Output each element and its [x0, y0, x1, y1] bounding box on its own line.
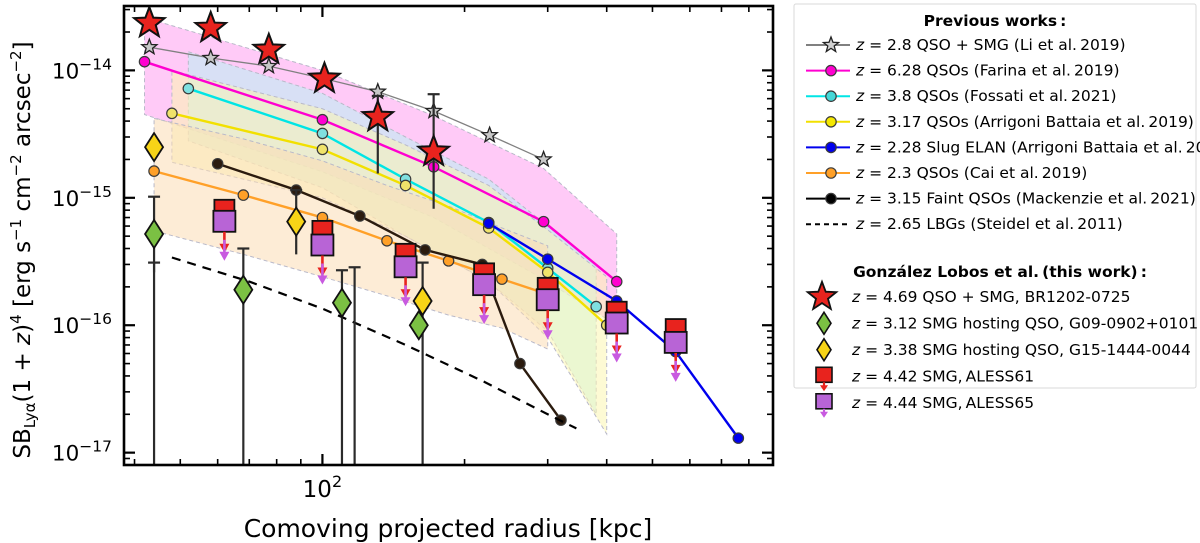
- legend-marker-circle-2: [826, 91, 836, 101]
- legend-label-thiswork-2: z = 3.38 SMG hosting QSO, G15-1444-0044: [851, 341, 1191, 359]
- series-6-point-3: [420, 245, 430, 255]
- legend-marker-circle-3: [826, 117, 836, 127]
- legend-label-previous-5: z = 2.3 QSOs (Cai et al. 2019): [855, 164, 1087, 182]
- legend-item-previous-3[interactable]: z = 3.17 QSOs (Arrigoni Battaia et al. 2…: [806, 113, 1194, 131]
- legend-marker-circle-5: [826, 168, 836, 178]
- aless65-marker-2: [395, 256, 417, 277]
- x-axis-title: Comoving projected radius [kpc]: [244, 514, 653, 543]
- aless65-marker-1: [311, 235, 333, 256]
- figure-root: SBLyα(1 + z)4 [erg s−1 cm−2 arcsec−2] Co…: [0, 0, 1200, 543]
- legend-label-previous-7: z = 2.65 LBGs (Steidel et al. 2011): [855, 215, 1123, 233]
- series-6-point-0: [212, 159, 222, 169]
- legend-item-previous-4[interactable]: z = 2.28 Slug ELAN (Arrigoni Battaia et …: [806, 138, 1200, 156]
- series-3-point-2: [400, 180, 410, 190]
- aless65-marker-0: [213, 211, 235, 232]
- series-5-point-0: [149, 166, 159, 176]
- aless65-marker-5: [606, 313, 628, 334]
- series-3-point-0: [167, 108, 177, 118]
- series-2-point-5: [591, 301, 601, 311]
- aless65-marker-4: [537, 289, 559, 310]
- series-6-point-5: [515, 358, 525, 368]
- series-2-point-1: [317, 128, 327, 138]
- legend-label-previous-2: z = 3.8 QSOs (Fossati et al. 2021): [855, 87, 1117, 105]
- legend-label-previous-0: z = 2.8 QSO + SMG (Li et al. 2019): [855, 36, 1126, 54]
- series-5-point-5: [497, 274, 507, 284]
- series-1-point-0: [139, 56, 149, 66]
- legend-label-previous-3: z = 3.17 QSOs (Arrigoni Battaia et al. 2…: [855, 113, 1194, 131]
- legend-item-previous-6[interactable]: z = 3.15 Faint QSOs (Mackenzie et al. 20…: [806, 190, 1196, 208]
- series-4-point-4: [733, 433, 743, 443]
- legend-label-previous-1: z = 6.28 QSOs (Farina et al. 2019): [855, 62, 1120, 80]
- legend-marker-circle-1: [826, 65, 836, 75]
- y-axis-label: SBLyα(1 + z)4 [erg s−1 cm−2 arcsec−2]: [7, 41, 39, 458]
- legend-marker-square-3: [816, 367, 832, 382]
- series-1-point-1: [317, 115, 327, 125]
- legend-item-thiswork-2[interactable]: z = 3.38 SMG hosting QSO, G15-1444-0044: [817, 339, 1191, 361]
- legend: Previous works :z = 2.8 QSO + SMG (Li et…: [794, 4, 1200, 418]
- series-3-point-1: [317, 144, 327, 154]
- legend-label-thiswork-4: z = 4.44 SMG, ALESS65: [851, 394, 1034, 412]
- aless65-marker-3: [473, 274, 495, 295]
- series-1-point-4: [612, 276, 622, 286]
- legend-label-thiswork-1: z = 3.12 SMG hosting QSO, G09-0902+0101: [851, 314, 1198, 332]
- legend-section1-title: Previous works :: [924, 12, 1067, 30]
- legend-label-previous-4: z = 2.28 Slug ELAN (Arrigoni Battaia et …: [855, 138, 1200, 156]
- series-5-point-3: [382, 236, 392, 246]
- legend-marker-square-4: [816, 394, 832, 409]
- legend-label-previous-6: z = 3.15 Faint QSOs (Mackenzie et al. 20…: [855, 190, 1196, 208]
- legend-label-thiswork-0: z = 4.69 QSO + SMG, BR1202-0725: [851, 288, 1130, 306]
- series-5-point-1: [238, 190, 248, 200]
- legend-item-thiswork-1[interactable]: z = 3.12 SMG hosting QSO, G09-0902+0101: [817, 312, 1198, 334]
- svg-text:SBLyα(1 + z)4 [erg s−1 cm−2 ar: SBLyα(1 + z)4 [erg s−1 cm−2 arcsec−2]: [7, 41, 39, 458]
- series-1-point-3: [538, 216, 548, 226]
- series-4-point-0: [484, 218, 494, 228]
- x-axis-label: Comoving projected radius [kpc]: [244, 514, 653, 543]
- series-4-point-1: [543, 254, 553, 264]
- legend-section2-title: González Lobos et al. (this work) :: [853, 263, 1147, 281]
- series-2-point-0: [183, 83, 193, 93]
- chart-svg: SBLyα(1 + z)4 [erg s−1 cm−2 arcsec−2] Co…: [0, 0, 1200, 543]
- series-3-point-4: [543, 267, 553, 277]
- legend-marker-circle-4: [826, 142, 836, 152]
- series-6-point-2: [355, 211, 365, 221]
- legend-label-thiswork-3: z = 4.42 SMG, ALESS61: [851, 367, 1034, 385]
- aless65-marker-6: [665, 332, 687, 353]
- legend-marker-circle-6: [826, 193, 836, 203]
